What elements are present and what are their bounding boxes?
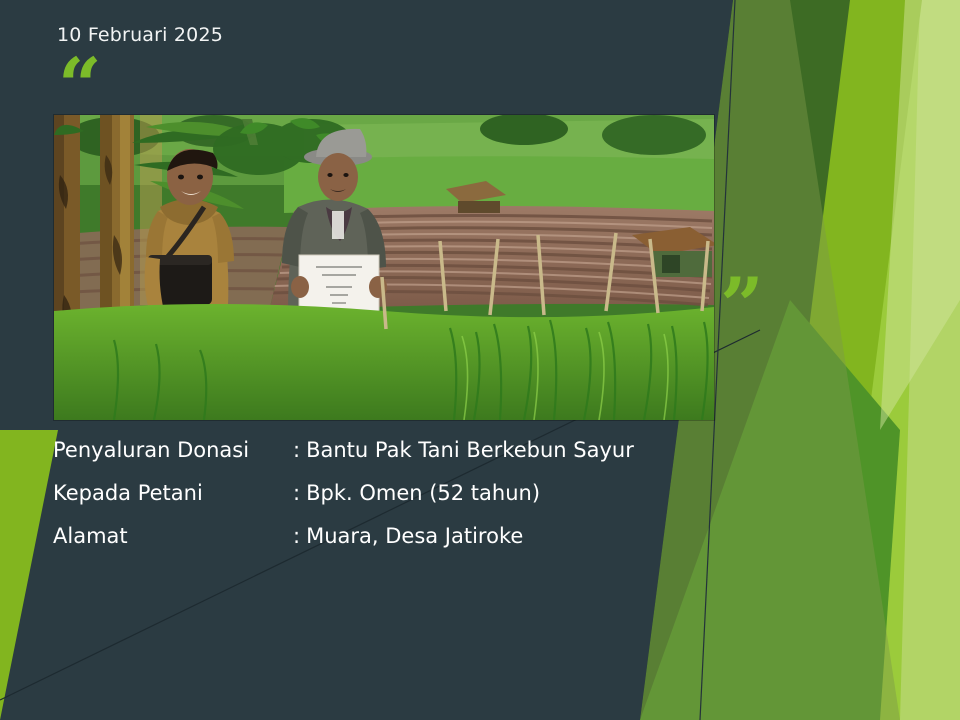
info-row-3: Alamat :Muara, Desa Jatiroke [53, 524, 693, 567]
info-row-1: Penyaluran Donasi :Bantu Pak Tani Berkeb… [53, 438, 693, 481]
info-label-alamat: Alamat [53, 524, 293, 548]
info-value-penyaluran: :Bantu Pak Tani Berkebun Sayur [293, 438, 634, 462]
info-text-2: Bpk. Omen (52 tahun) [306, 481, 540, 505]
info-row-2: Kepada Petani :Bpk. Omen (52 tahun) [53, 481, 693, 524]
colon-2: : [293, 481, 300, 505]
quote-open-icon: “ [58, 48, 102, 124]
colon-3: : [293, 524, 300, 548]
info-text-1: Bantu Pak Tani Berkebun Sayur [306, 438, 634, 462]
quote-close-icon: ” [720, 268, 764, 344]
donation-photo: CBA [54, 115, 714, 420]
info-text-3: Muara, Desa Jatiroke [306, 524, 523, 548]
info-value-alamat: :Muara, Desa Jatiroke [293, 524, 523, 548]
info-label-penyaluran: Penyaluran Donasi [53, 438, 293, 462]
info-value-petani: :Bpk. Omen (52 tahun) [293, 481, 540, 505]
colon-1: : [293, 438, 300, 462]
photo-illustration: CBA [54, 115, 714, 420]
donation-info-list: Penyaluran Donasi :Bantu Pak Tani Berkeb… [53, 438, 693, 567]
info-label-petani: Kepada Petani [53, 481, 293, 505]
slide-canvas: 10 Februari 2025 “ ” [0, 0, 960, 720]
